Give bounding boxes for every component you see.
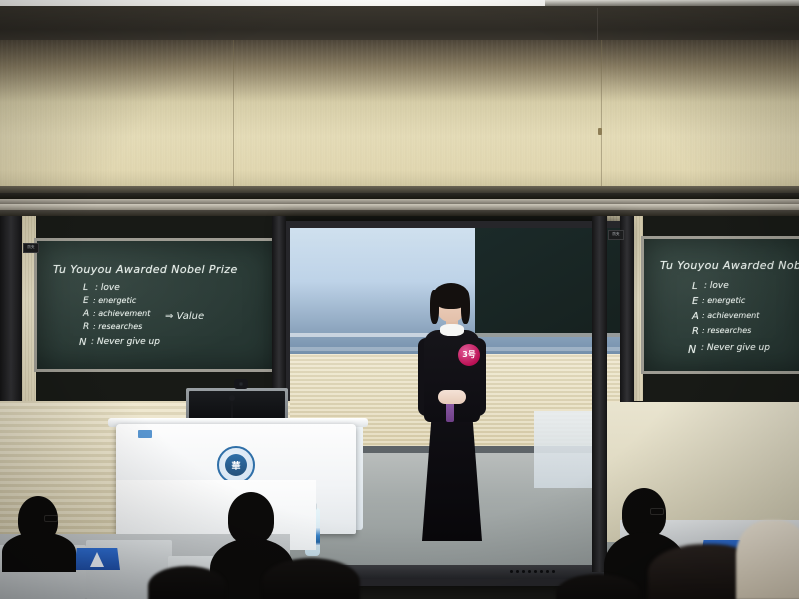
wall-panel-seam-right xyxy=(601,40,602,188)
foreground-light-head xyxy=(736,520,799,599)
presenter-hair-right xyxy=(461,290,470,324)
university-emblem-text: 華 xyxy=(231,459,240,472)
foreground-head-1 xyxy=(148,566,226,599)
blackboard-right-line-5-value: : Never give up xyxy=(701,343,770,353)
blackboard-left-arrow-value: ⇒ Value xyxy=(165,311,204,322)
audience-glasses-right xyxy=(650,508,664,515)
frame-warning-tag-left: 防夹 xyxy=(23,243,39,253)
presenter-number-badge: 3号 xyxy=(458,344,480,366)
wall-hook xyxy=(598,128,602,135)
chair-arrow-marking xyxy=(90,552,104,567)
university-emblem-inner: 華 xyxy=(225,454,247,476)
blackboard-right-content: Tu Youyou Awarded Nobel Prize L : love E… xyxy=(644,239,799,371)
board-frame-divider-far-right xyxy=(620,216,634,402)
presenter-hair-left xyxy=(430,290,439,324)
blackboard-right-line-1: L xyxy=(692,281,698,292)
presenter-figure: 3号 xyxy=(408,286,496,541)
presenter-badge-number: 3号 xyxy=(462,351,476,359)
board-frame-divider-center-right xyxy=(592,216,607,572)
blackboard-right-line-1-value: : love xyxy=(704,281,729,291)
wall-panel-seam-left xyxy=(233,40,234,188)
blackboard-left-title: Tu Youyou Awarded Nobel Prize xyxy=(53,263,238,276)
audience-head-center xyxy=(228,492,274,544)
blackboard-left-content: Tu Youyou Awarded Nobel Prize L : love E… xyxy=(37,241,275,369)
blackboard-left: Tu Youyou Awarded Nobel Prize L : love E… xyxy=(34,238,278,372)
university-emblem: 華 xyxy=(217,446,255,484)
wood-panel-wall xyxy=(0,40,799,188)
foreground-head-2 xyxy=(262,558,360,599)
blackboard-right-title: Tu Youyou Awarded Nobel Prize xyxy=(660,259,799,272)
monitor-camera xyxy=(234,379,248,389)
blackboard-right-line-2: E xyxy=(692,296,698,307)
blackboard-right-line-2-value: : energetic xyxy=(702,296,745,305)
display-speaker-grille xyxy=(510,570,555,573)
podium-sticker xyxy=(138,430,152,438)
blackboard-right-line-4: R xyxy=(692,326,699,337)
blackboard-left-line-1: L xyxy=(83,283,88,293)
blackboard-right-line-3-value: : achievement xyxy=(702,311,759,320)
track-rail-upper xyxy=(0,186,799,193)
blackboard-left-line-4-value: : researches xyxy=(93,322,142,331)
blackboard-left-line-2-value: : energetic xyxy=(93,296,136,305)
board-frame-divider-center-left xyxy=(272,216,286,402)
audience-shoulders-left xyxy=(2,532,76,572)
blackboard-left-line-2: E xyxy=(83,296,89,306)
classroom-photo-scene: Tu Youyou Awarded Nobel Prize L : love E… xyxy=(0,0,799,599)
audience-glasses-left xyxy=(44,515,58,522)
blackboard-left-line-5: N xyxy=(79,337,86,348)
frame-warning-tag-right: 防夹 xyxy=(608,230,624,240)
board-frame-divider-far-left xyxy=(0,216,22,402)
blackboard-left-line-1-value: : love xyxy=(95,283,120,293)
blackboard-right-line-3: A xyxy=(692,311,699,322)
blackboard-left-line-3-value: : achievement xyxy=(93,309,150,318)
presenter-collar xyxy=(440,324,464,336)
blackboard-left-line-3: A xyxy=(83,309,89,319)
blackboard-right-line-5: N xyxy=(688,343,696,356)
presenter-skirt xyxy=(422,416,482,541)
blackboard-right-line-4-value: : researches xyxy=(702,326,751,335)
blackboard-left-line-4: R xyxy=(83,322,89,332)
blackboard-right: Tu Youyou Awarded Nobel Prize L : love E… xyxy=(641,236,799,374)
blackboard-left-line-5-value: : Never give up xyxy=(91,337,160,347)
presenter-hands xyxy=(438,390,466,404)
